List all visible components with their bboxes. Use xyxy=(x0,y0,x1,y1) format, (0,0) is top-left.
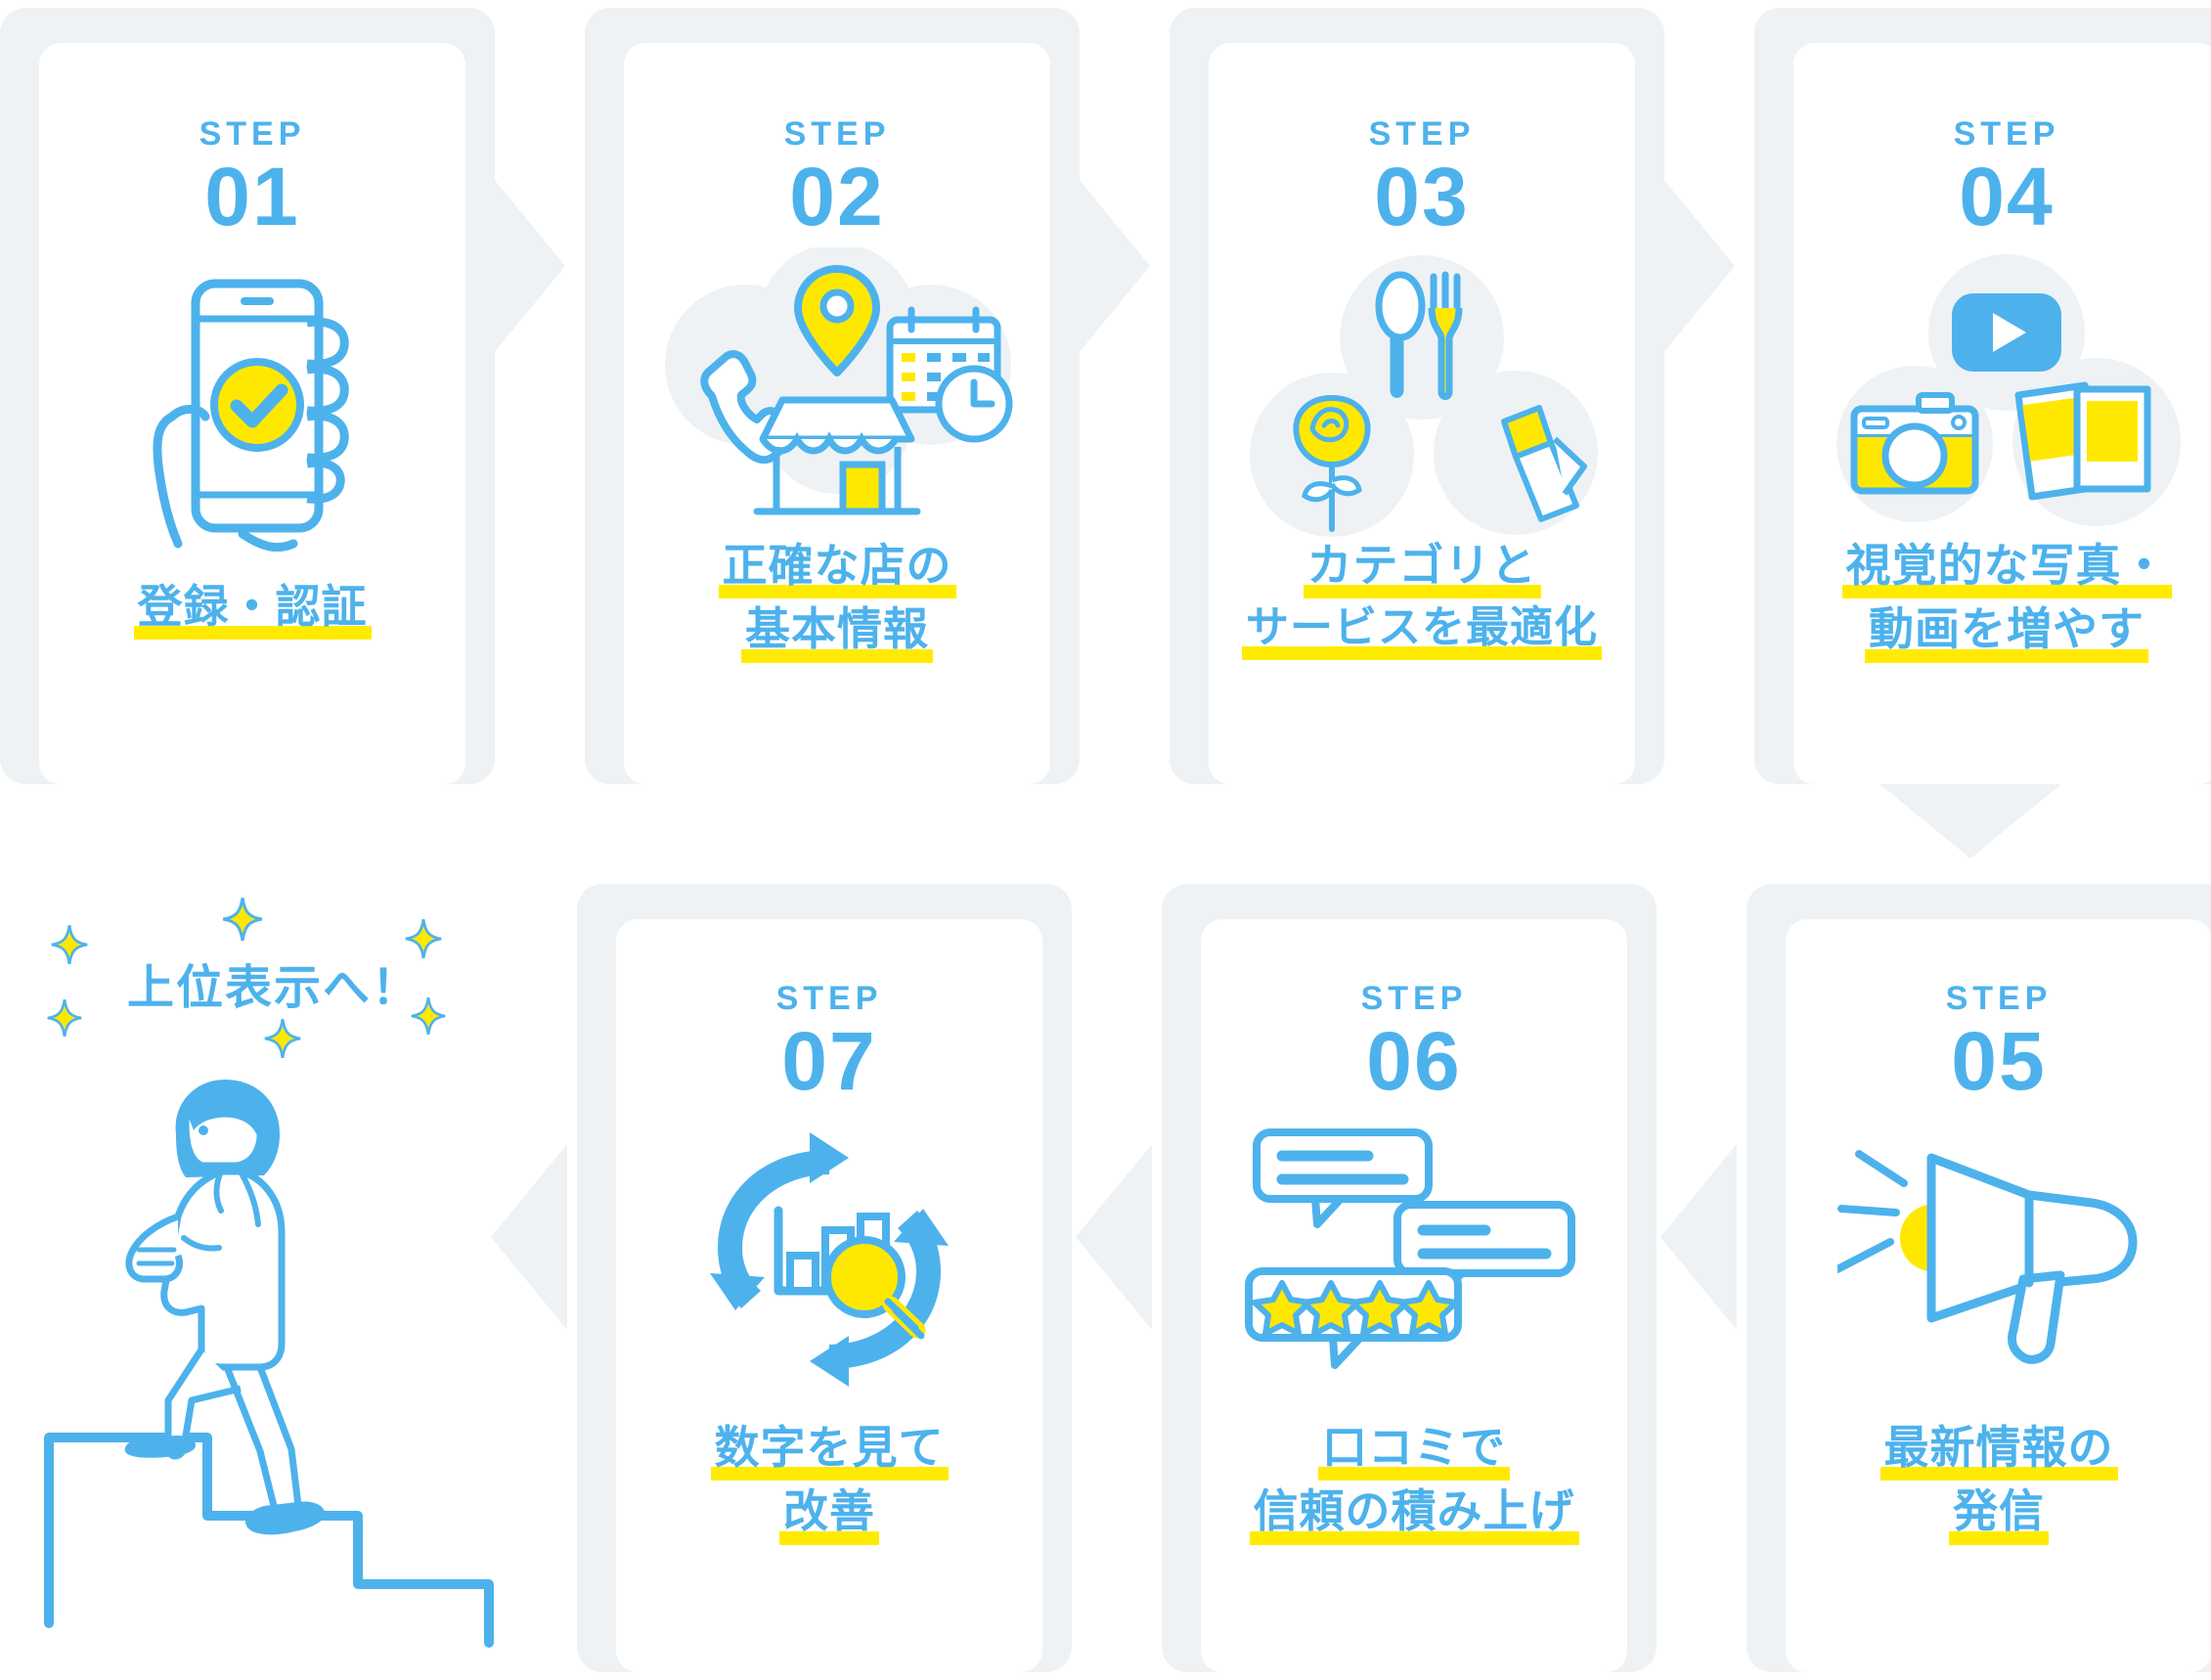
step-caption-04-line-1: 視覚的な写真・ xyxy=(1842,535,2172,598)
step-caption-07-line-1: 数字を見て xyxy=(711,1417,949,1481)
step-label-05: STEP xyxy=(1946,980,2053,1018)
step-label-04: STEP xyxy=(1954,115,2060,154)
step-caption-01-line-1: 登録・認証 xyxy=(134,576,372,640)
step-caption-05-line-1: 最新情報の xyxy=(1880,1417,2118,1481)
flow-arrow-2-to-3 xyxy=(1074,173,1150,359)
step-caption-02-line-1: 正確な店の xyxy=(719,535,956,598)
step-caption-07-line-2: 改善 xyxy=(779,1481,879,1544)
step-card-01[interactable]: STEP 01 xyxy=(0,8,495,784)
step-card-03[interactable]: STEP 03 xyxy=(1170,8,1664,784)
step-caption-04: 視覚的な写真・ 動画を増やす xyxy=(1842,535,2172,663)
step-caption-06-line-2: 信頼の積み上げ xyxy=(1250,1481,1579,1544)
sparkle-icon xyxy=(223,898,262,941)
step-label-07: STEP xyxy=(776,980,883,1018)
sparkle-icon xyxy=(47,999,82,1037)
step-illustration-01 xyxy=(135,263,370,556)
step-card-02[interactable]: STEP 02 xyxy=(585,8,1080,784)
step-card-07[interactable]: STEP 07 xyxy=(577,884,1072,1672)
step-card-06[interactable]: STEP 06 xyxy=(1162,884,1657,1672)
step-label-06: STEP xyxy=(1361,980,1468,1018)
person-climbing-stairs-icon xyxy=(29,1056,518,1662)
step-label-02: STEP xyxy=(784,115,891,154)
step-number-02: 02 xyxy=(789,155,884,238)
step-caption-05: 最新情報の 発信 xyxy=(1880,1417,2118,1545)
step-illustration-07 xyxy=(692,1118,966,1401)
step-card-01-body: STEP 01 xyxy=(39,43,465,784)
step-caption-05-line-2: 発信 xyxy=(1949,1481,2049,1544)
step-caption-03-line-1: カテゴリと xyxy=(1304,535,1541,598)
flow-arrow-1-to-2 xyxy=(489,173,565,359)
sparkle-icon xyxy=(411,997,446,1035)
sparkle-icon xyxy=(264,1019,301,1058)
flow-arrow-4-to-5 xyxy=(1878,782,2063,859)
step-caption-02-line-2: 基本情報 xyxy=(741,598,933,662)
step-card-04[interactable]: STEP 04 xyxy=(1754,8,2211,784)
step-caption-02: 正確な店の 基本情報 xyxy=(719,535,956,663)
step-caption-03: カテゴリと サービスを最適化 xyxy=(1242,535,1602,660)
step-card-06-body: STEP 06 xyxy=(1201,919,1627,1672)
final-result-block: 上位表示へ！ xyxy=(0,861,548,1680)
sparkle-icon xyxy=(405,919,442,958)
step-label-03: STEP xyxy=(1369,115,1476,154)
step-number-01: 01 xyxy=(204,155,299,238)
step-number-07: 07 xyxy=(781,1020,876,1102)
step-card-04-body: STEP 04 xyxy=(1793,43,2211,784)
step-caption-04-line-2: 動画を増やす xyxy=(1865,598,2148,662)
step-illustration-04 xyxy=(1821,247,2192,541)
step-flow-infographic: STEP 01 xyxy=(0,0,2211,1680)
step-number-03: 03 xyxy=(1374,155,1469,238)
step-number-05: 05 xyxy=(1951,1020,2046,1102)
step-card-02-body: STEP 02 xyxy=(624,43,1050,784)
step-number-06: 06 xyxy=(1366,1020,1461,1102)
final-title: 上位表示へ！ xyxy=(88,949,460,1017)
step-illustration-02 xyxy=(641,247,1033,541)
step-illustration-03 xyxy=(1236,247,1608,541)
step-caption-03-line-2: サービスを最適化 xyxy=(1242,598,1602,660)
step-card-05[interactable]: STEP 05 xyxy=(1747,884,2211,1672)
step-illustration-06 xyxy=(1243,1118,1585,1401)
step-caption-07: 数字を見て 改善 xyxy=(711,1417,949,1545)
flow-arrow-5-to-6 xyxy=(1660,1144,1737,1330)
step-caption-01: 登録・認証 xyxy=(134,576,372,640)
step-number-04: 04 xyxy=(1959,155,2054,238)
step-label-01: STEP xyxy=(199,115,306,154)
step-card-05-body: STEP 05 xyxy=(1786,919,2211,1672)
step-card-03-body: STEP 03 xyxy=(1209,43,1635,784)
step-card-07-body: STEP 07 xyxy=(616,919,1042,1672)
step-caption-06: 口コミで 信頼の積み上げ xyxy=(1250,1417,1579,1545)
sparkle-icon xyxy=(51,925,88,964)
flow-arrow-6-to-7 xyxy=(1076,1144,1152,1330)
step-caption-06-line-1: 口コミで xyxy=(1318,1417,1510,1481)
flow-arrow-3-to-4 xyxy=(1658,173,1735,359)
step-illustration-05 xyxy=(1837,1118,2160,1401)
